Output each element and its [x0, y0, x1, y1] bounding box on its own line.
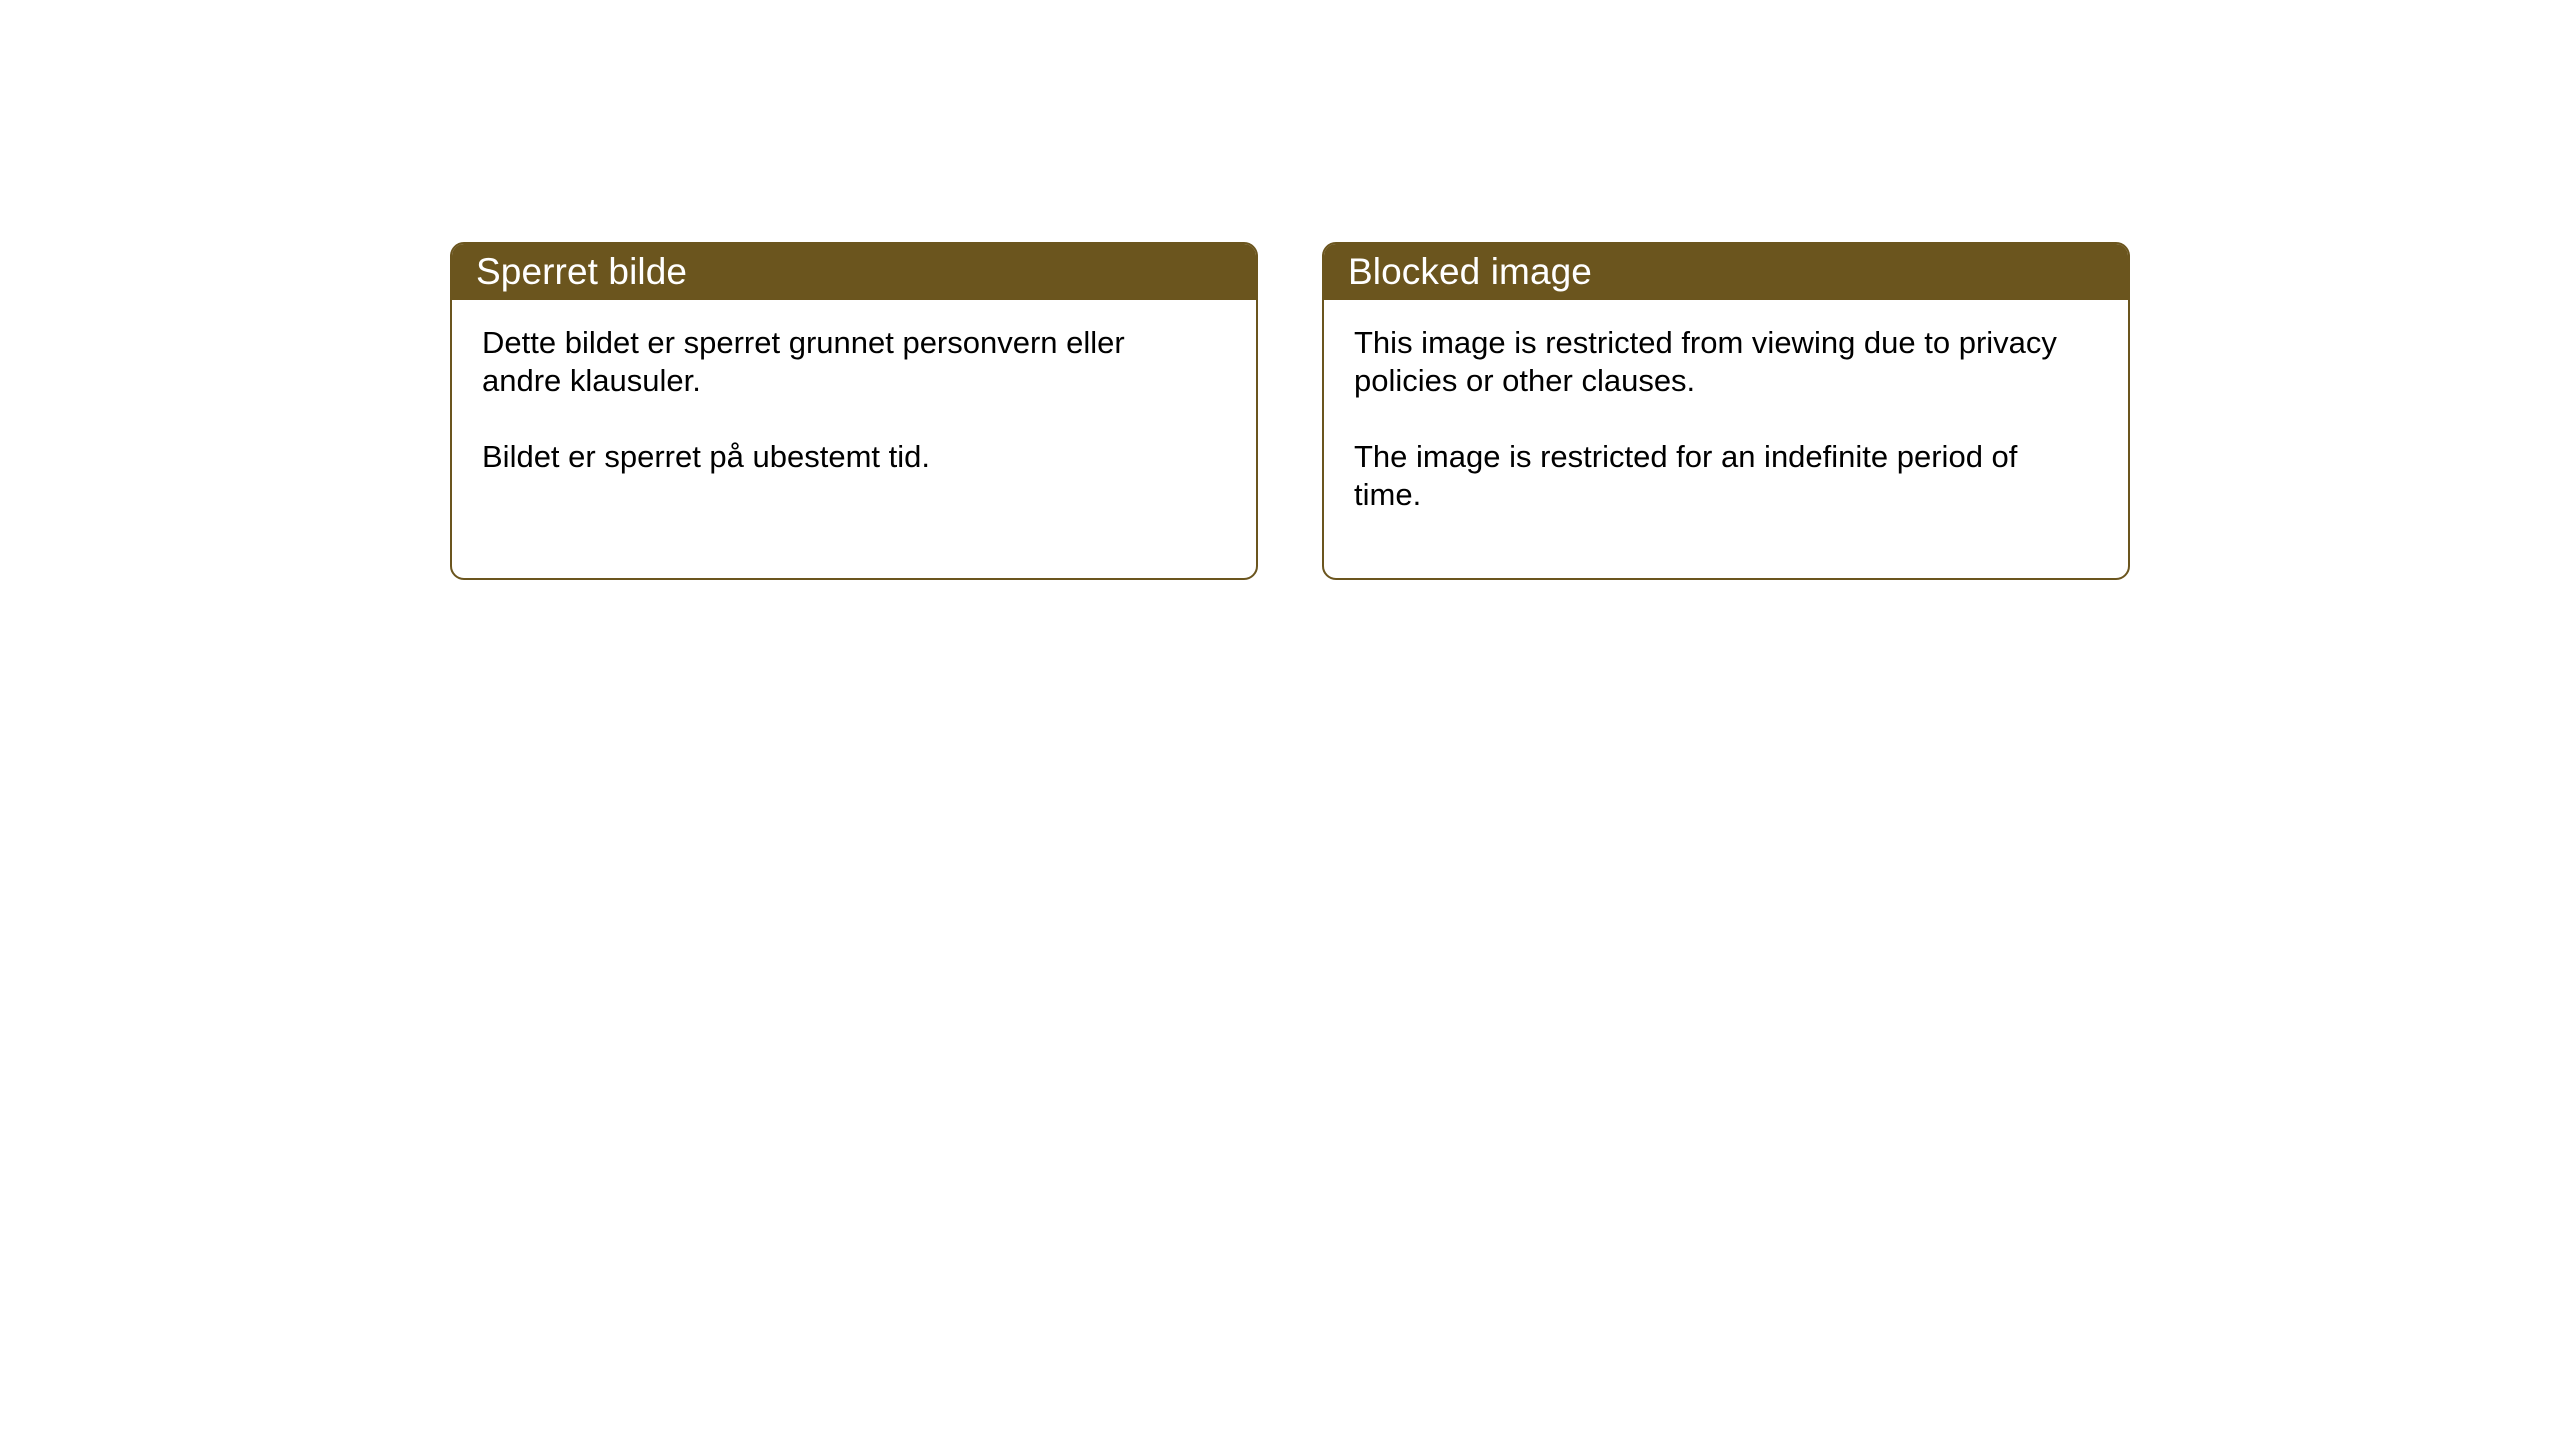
- card-title-english: Blocked image: [1348, 253, 1592, 290]
- card-paragraph-english-1: This image is restricted from viewing du…: [1354, 324, 2084, 401]
- card-header-norwegian: Sperret bilde: [450, 242, 1258, 300]
- card-title-norwegian: Sperret bilde: [476, 253, 687, 290]
- card-body-norwegian: Dette bildet er sperret grunnet personve…: [452, 300, 1256, 578]
- card-paragraph-english-2: The image is restricted for an indefinit…: [1354, 438, 2084, 515]
- blocked-image-card-english: Blocked image This image is restricted f…: [1322, 242, 2130, 580]
- card-header-english: Blocked image: [1322, 242, 2130, 300]
- card-paragraph-norwegian-2: Bildet er sperret på ubestemt tid.: [482, 438, 1212, 476]
- card-paragraph-norwegian-1: Dette bildet er sperret grunnet personve…: [482, 324, 1212, 401]
- blocked-image-card-norwegian: Sperret bilde Dette bildet er sperret gr…: [450, 242, 1258, 580]
- blocked-image-notice-area: Sperret bilde Dette bildet er sperret gr…: [450, 242, 2130, 580]
- card-body-english: This image is restricted from viewing du…: [1324, 300, 2128, 578]
